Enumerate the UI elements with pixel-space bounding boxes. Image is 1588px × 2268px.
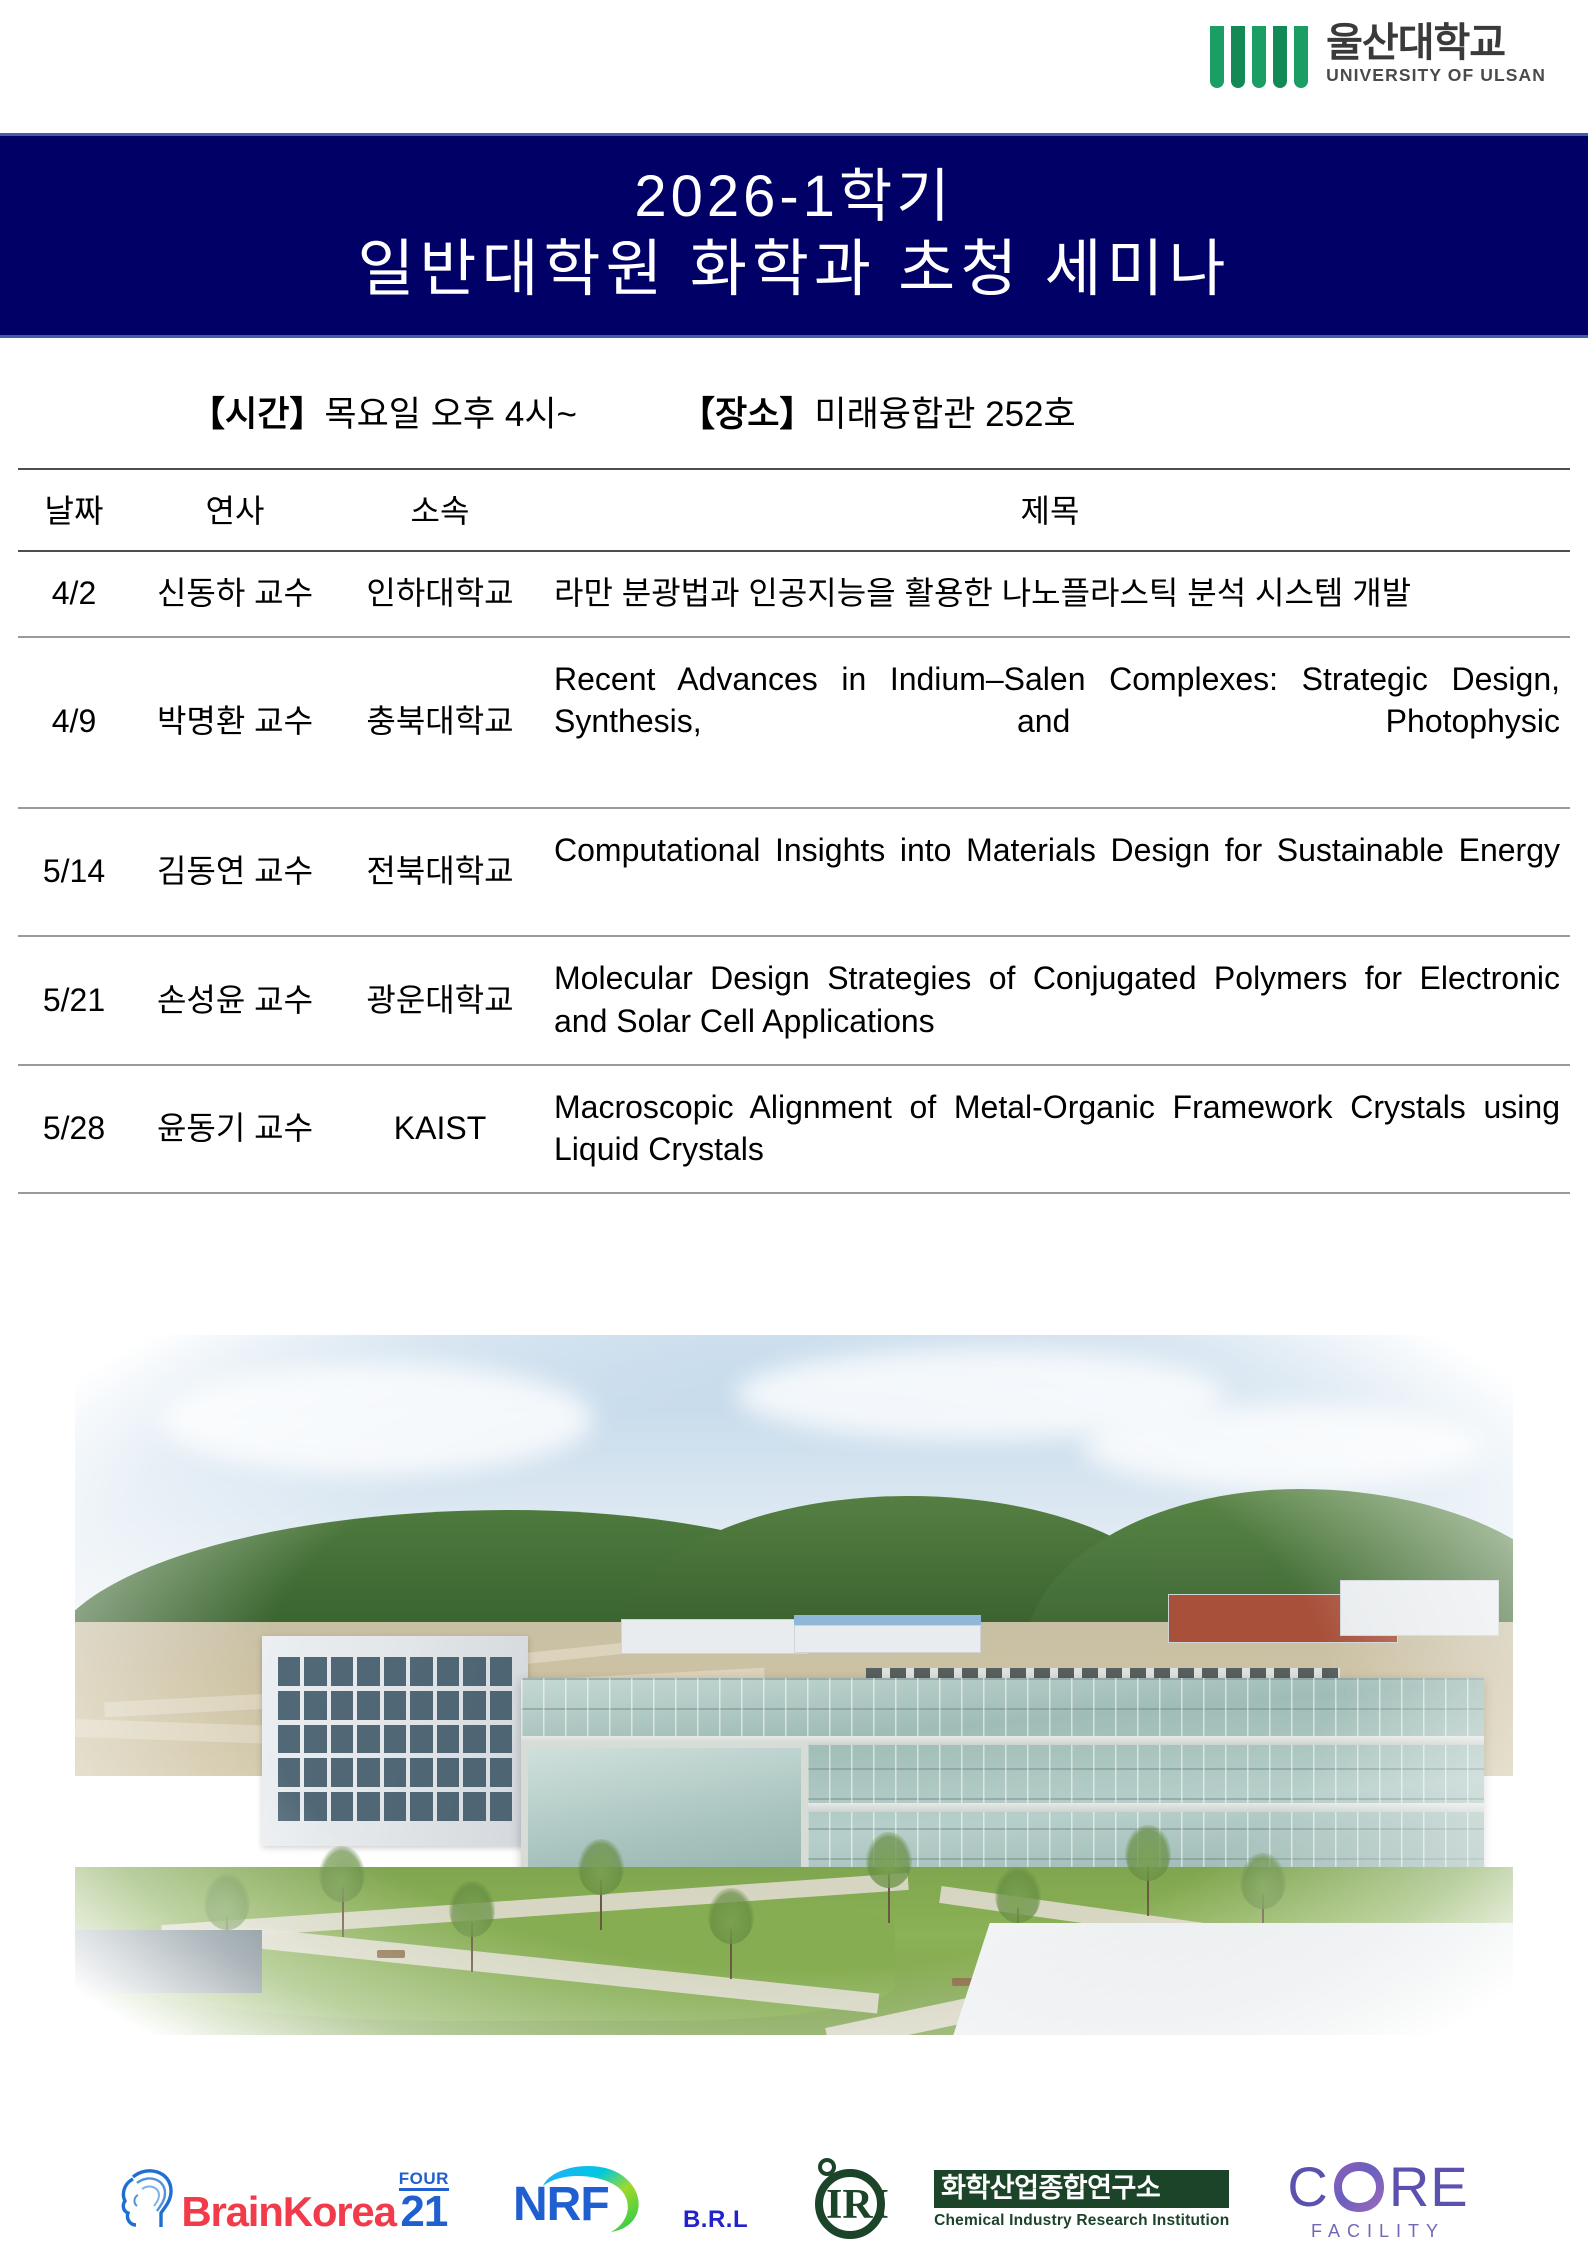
core-ring-icon [1331,2159,1387,2215]
table-row: 4/2 신동하 교수 인하대학교 라만 분광법과 인공지능을 활용한 나노플라스… [18,551,1570,637]
tree [866,1832,912,1923]
cell-speaker: 윤동기 교수 [130,1065,340,1193]
cell-title: Macroscopic Alignment of Metal-Organic F… [540,1065,1570,1193]
ciri-name-ko: 화학산업종합연구소 [934,2170,1229,2207]
cell-affiliation: 전북대학교 [340,808,540,936]
far-building [1340,1580,1498,1636]
cell-date: 5/21 [18,936,130,1064]
cell-speaker: 손성윤 교수 [130,936,340,1064]
ulsan-bars-logo-icon [1210,22,1308,88]
cell-date: 4/9 [18,637,130,808]
event-place: 【장소】미래융합관 252호 [680,386,1400,437]
university-logo: 울산대학교 UNIVERSITY OF ULSAN [1210,22,1546,88]
core-facility-label: FACILITY [1311,2221,1445,2242]
banner-semester-line: 2026-1학기 [634,164,953,231]
nrf-logo: NRF B.R.L [507,2160,748,2240]
cell-date: 5/14 [18,808,130,936]
cell-date: 5/28 [18,1065,130,1193]
tree [449,1881,495,1972]
cell-title: Computational Insights into Materials De… [540,808,1570,936]
header-affiliation: 소속 [340,469,540,551]
cell-affiliation: 충북대학교 [340,637,540,808]
ciri-logo: IRI 화학산업종합연구소 Chemical Industry Research… [806,2158,1229,2242]
white-academic-building [262,1636,528,1846]
tree [578,1839,624,1930]
header-speaker: 연사 [130,469,340,551]
university-name-en: UNIVERSITY OF ULSAN [1326,65,1546,86]
cell-affiliation: KAIST [340,1065,540,1193]
nrf-swoosh-icon: NRF [507,2160,677,2240]
tree [1125,1825,1171,1916]
table-header: 날짜 연사 소속 제목 [18,469,1570,551]
brainkorea-wordmark: BrainKorea [181,2191,395,2233]
cloud [1082,1405,1485,1489]
campus-photo [75,1335,1513,2035]
place-value: 미래융합관 252호 [814,395,1075,434]
brain-head-icon [119,2167,179,2233]
bk21-number-block: FOUR 21 [399,2170,449,2233]
sponsor-logo-row: BrainKorea FOUR 21 [0,2140,1588,2260]
brainkorea21-logo: BrainKorea FOUR 21 [119,2167,449,2233]
time-label: 【시간】 [190,395,324,434]
far-building [794,1625,981,1653]
svg-text:NRF: NRF [513,2178,609,2231]
cell-affiliation: 광운대학교 [340,936,540,1064]
far-building [621,1619,808,1654]
core-letters-re: RE [1389,2159,1469,2215]
ciri-wordmark: 화학산업종합연구소 Chemical Industry Research Ins… [934,2170,1229,2229]
foreground-roof-left [75,1930,262,1993]
university-wordmark: 울산대학교 UNIVERSITY OF ULSAN [1326,22,1546,86]
tree [708,1888,754,1979]
core-letter-c: C [1287,2159,1328,2215]
schedule-table: 날짜 연사 소속 제목 4/2 신동하 교수 인하대학교 라만 분광법과 인공지… [18,468,1570,1194]
bk21-number: 21 [400,2191,447,2233]
banner-title-line: 일반대학원 화학과 초청 세미나 [357,233,1230,307]
table-row: 5/14 김동연 교수 전북대학교 Computational Insights… [18,808,1570,936]
nrf-brl-label: B.R.L [683,2206,748,2240]
far-building-roof [794,1615,981,1625]
core-wordmark-row: C RE [1287,2159,1468,2215]
header-title: 제목 [540,469,1570,551]
cell-speaker: 김동연 교수 [130,808,340,936]
cell-date: 4/2 [18,551,130,637]
cell-title: Molecular Design Strategies of Conjugate… [540,936,1570,1064]
foreground-roof-right [944,1923,1513,2035]
tree [319,1846,365,1937]
park-bench [377,1950,405,1958]
cell-speaker: 박명환 교수 [130,637,340,808]
title-banner: 2026-1학기 일반대학원 화학과 초청 세미나 [0,133,1588,338]
header-date: 날짜 [18,469,130,551]
event-time: 【시간】목요일 오후 4시~ [190,386,680,437]
table-row: 5/21 손성윤 교수 광운대학교 Molecular Design Strat… [18,936,1570,1064]
seminar-poster: 울산대학교 UNIVERSITY OF ULSAN 2026-1학기 일반대학원… [0,0,1588,2268]
event-info-row: 【시간】목요일 오후 4시~ 【장소】미래융합관 252호 [190,386,1400,437]
table-row: 5/28 윤동기 교수 KAIST Macroscopic Alignment … [18,1065,1570,1193]
time-value: 목요일 오후 4시~ [324,395,577,434]
cloud [161,1363,592,1475]
core-facility-logo: C RE FACILITY [1287,2159,1468,2242]
campus-photo-canvas [75,1335,1513,2035]
table-row: 4/9 박명환 교수 충북대학교 Recent Advances in Indi… [18,637,1570,808]
cell-affiliation: 인하대학교 [340,551,540,637]
ciri-circle-icon: IRI [806,2158,924,2242]
svg-text:IRI: IRI [826,2182,889,2228]
cell-title: 라만 분광법과 인공지능을 활용한 나노플라스틱 분석 시스템 개발 [540,551,1570,637]
cell-title: Recent Advances in Indium–Salen Complexe… [540,637,1570,808]
cell-speaker: 신동하 교수 [130,551,340,637]
window-grid [278,1657,512,1821]
schedule-table-wrapper: 날짜 연사 소속 제목 4/2 신동하 교수 인하대학교 라만 분광법과 인공지… [18,468,1570,1194]
table-header-row: 날짜 연사 소속 제목 [18,469,1570,551]
ciri-name-en: Chemical Industry Research Institution [934,2212,1229,2230]
university-name-ko: 울산대학교 [1326,22,1546,64]
place-label: 【장소】 [680,395,814,434]
table-body: 4/2 신동하 교수 인하대학교 라만 분광법과 인공지능을 활용한 나노플라스… [18,551,1570,1193]
